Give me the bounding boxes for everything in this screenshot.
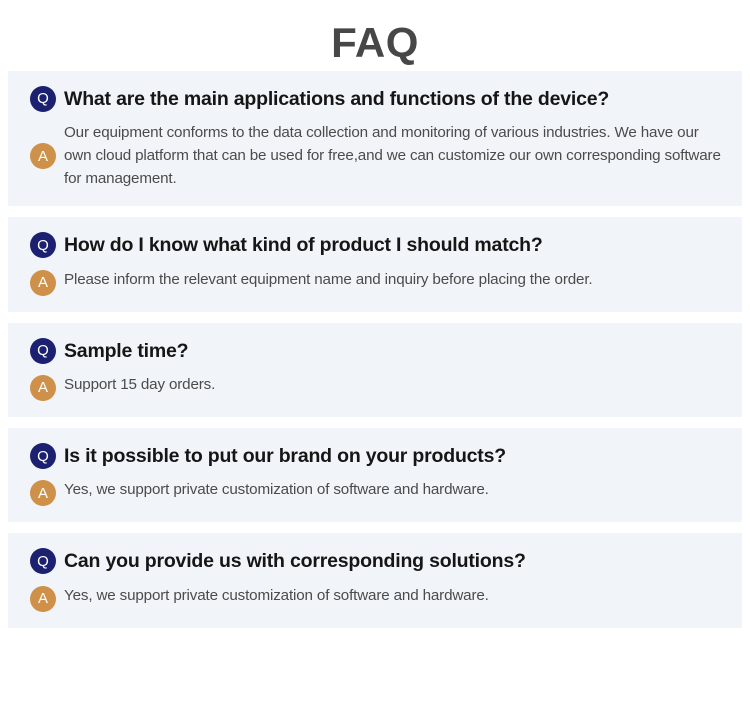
faq-question-row: Q Sample time? <box>22 337 728 364</box>
faq-answer-text: Our equipment conforms to the data colle… <box>64 122 728 190</box>
faq-question-row: Q Can you provide us with corresponding … <box>22 547 728 574</box>
faq-item[interactable]: Q Sample time? A Support 15 day orders. <box>8 323 742 417</box>
answer-badge-cell: A <box>22 269 64 296</box>
faq-answer-row: A Yes, we support private customization … <box>22 479 728 506</box>
answer-badge-icon: A <box>30 586 56 612</box>
answer-badge-cell: A <box>22 374 64 401</box>
faq-question-row: Q How do I know what kind of product I s… <box>22 231 728 258</box>
question-badge-icon: Q <box>30 443 56 469</box>
answer-badge-cell: A <box>22 143 64 169</box>
question-badge-cell: Q <box>22 85 64 112</box>
faq-question-row: Q What are the main applications and fun… <box>22 85 728 112</box>
faq-list: Q What are the main applications and fun… <box>0 71 750 628</box>
faq-item[interactable]: Q Can you provide us with corresponding … <box>8 533 742 627</box>
faq-answer-text: Yes, we support private customization of… <box>64 585 728 608</box>
question-badge-icon: Q <box>30 548 56 574</box>
faq-answer-row: A Please inform the relevant equipment n… <box>22 269 728 296</box>
faq-item[interactable]: Q How do I know what kind of product I s… <box>8 217 742 311</box>
faq-question-text: How do I know what kind of product I sho… <box>64 231 728 258</box>
question-badge-icon: Q <box>30 86 56 112</box>
answer-badge-cell: A <box>22 479 64 506</box>
answer-badge-icon: A <box>30 480 56 506</box>
question-badge-cell: Q <box>22 231 64 258</box>
faq-answer-row: A Our equipment conforms to the data col… <box>22 122 728 190</box>
faq-question-text: What are the main applications and funct… <box>64 85 728 112</box>
faq-item[interactable]: Q Is it possible to put our brand on you… <box>8 428 742 522</box>
faq-answer-text: Yes, we support private customization of… <box>64 479 728 502</box>
question-badge-cell: Q <box>22 337 64 364</box>
faq-answer-text: Please inform the relevant equipment nam… <box>64 269 728 292</box>
faq-question-text: Is it possible to put our brand on your … <box>64 442 728 469</box>
faq-item[interactable]: Q What are the main applications and fun… <box>8 71 742 207</box>
page-title: FAQ <box>0 0 750 71</box>
faq-question-text: Can you provide us with corresponding so… <box>64 547 728 574</box>
faq-page: FAQ Q What are the main applications and… <box>0 0 750 727</box>
question-badge-icon: Q <box>30 232 56 258</box>
answer-badge-icon: A <box>30 143 56 169</box>
question-badge-cell: Q <box>22 442 64 469</box>
answer-badge-cell: A <box>22 585 64 612</box>
faq-question-row: Q Is it possible to put our brand on you… <box>22 442 728 469</box>
faq-answer-text: Support 15 day orders. <box>64 374 728 397</box>
faq-answer-row: A Yes, we support private customization … <box>22 585 728 612</box>
answer-badge-icon: A <box>30 375 56 401</box>
question-badge-cell: Q <box>22 547 64 574</box>
answer-badge-icon: A <box>30 270 56 296</box>
question-badge-icon: Q <box>30 338 56 364</box>
faq-question-text: Sample time? <box>64 337 728 364</box>
faq-answer-row: A Support 15 day orders. <box>22 374 728 401</box>
